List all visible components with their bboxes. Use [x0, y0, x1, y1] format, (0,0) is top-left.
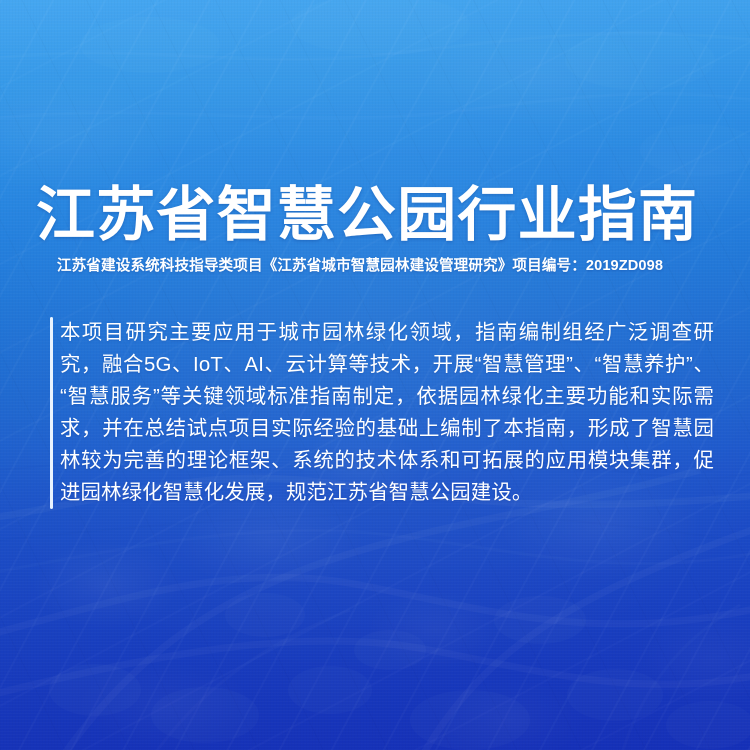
body-block: 本项目研究主要应用于城市园林绿化领域，指南编制组经广泛调查研究，融合5G、IoT…	[50, 317, 714, 509]
title-block: 江苏省智慧公园行业指南 江苏省建设系统科技指导类项目《江苏省城市智慧园林建设管理…	[36, 186, 714, 276]
accent-bar	[50, 317, 53, 509]
body-paragraph: 本项目研究主要应用于城市园林绿化领域，指南编制组经广泛调查研究，融合5G、IoT…	[57, 317, 714, 509]
page-subtitle: 江苏省建设系统科技指导类项目《江苏省城市智慧园林建设管理研究》项目编号：2019…	[36, 258, 684, 276]
page-title: 江苏省智慧公园行业指南	[36, 186, 714, 245]
poster-banner: 江苏省智慧公园行业指南 江苏省建设系统科技指导类项目《江苏省城市智慧园林建设管理…	[0, 0, 750, 750]
poster-content: 江苏省智慧公园行业指南 江苏省建设系统科技指导类项目《江苏省城市智慧园林建设管理…	[0, 0, 750, 750]
